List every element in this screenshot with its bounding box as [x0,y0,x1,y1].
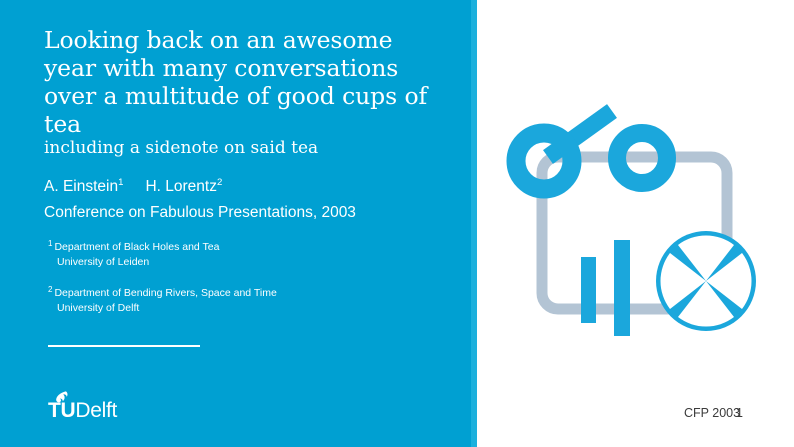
logo-delft: Delft [75,399,117,422]
affiliation-marker: 1 [48,239,52,248]
author-name: H. Lorentz [145,178,217,195]
author-affiliation-marker: 2 [217,177,222,188]
logo-tu: TU [48,399,75,422]
wheel-with-cross-spokes [656,231,756,331]
author-entry: A. Einstein1 [44,178,123,195]
affiliation-department: Department of Bending Rivers, Space and … [54,287,276,299]
slide-title: Looking back on an awesome year with man… [44,26,444,138]
affiliation-organization: University of Delft [48,301,277,316]
affiliation-department: Department of Black Holes and Tea [54,241,219,253]
horizontal-rule [48,345,200,347]
conference-line: Conference on Fabulous Presentations, 20… [44,203,356,223]
author-name: A. Einstein [44,178,118,195]
title-panel-edge [471,0,477,447]
footer-page-number: 1 [736,406,743,420]
presentation-slide: Looking back on an awesome year with man… [0,0,794,447]
author-affiliation-marker: 1 [118,177,123,188]
author-entry: H. Lorentz2 [145,178,222,195]
tudelft-logo-text: TUDelft [48,400,117,422]
tudelft-technology-illustration [500,85,780,350]
capacitor-bar-tall [614,240,630,336]
affiliation-entry: 1Department of Black Holes and Tea Unive… [48,240,219,269]
capacitor-bar-short [581,257,596,323]
affiliation-entry: 2Department of Bending Rivers, Space and… [48,286,277,315]
affiliation-organization: University of Leiden [48,255,219,270]
slide-subtitle: including a sidenote on said tea [44,138,444,159]
footer-conference: CFP 2003 [684,406,740,420]
author-list: A. Einstein1H. Lorentz2 [44,177,222,197]
affiliation-marker: 2 [48,285,52,294]
